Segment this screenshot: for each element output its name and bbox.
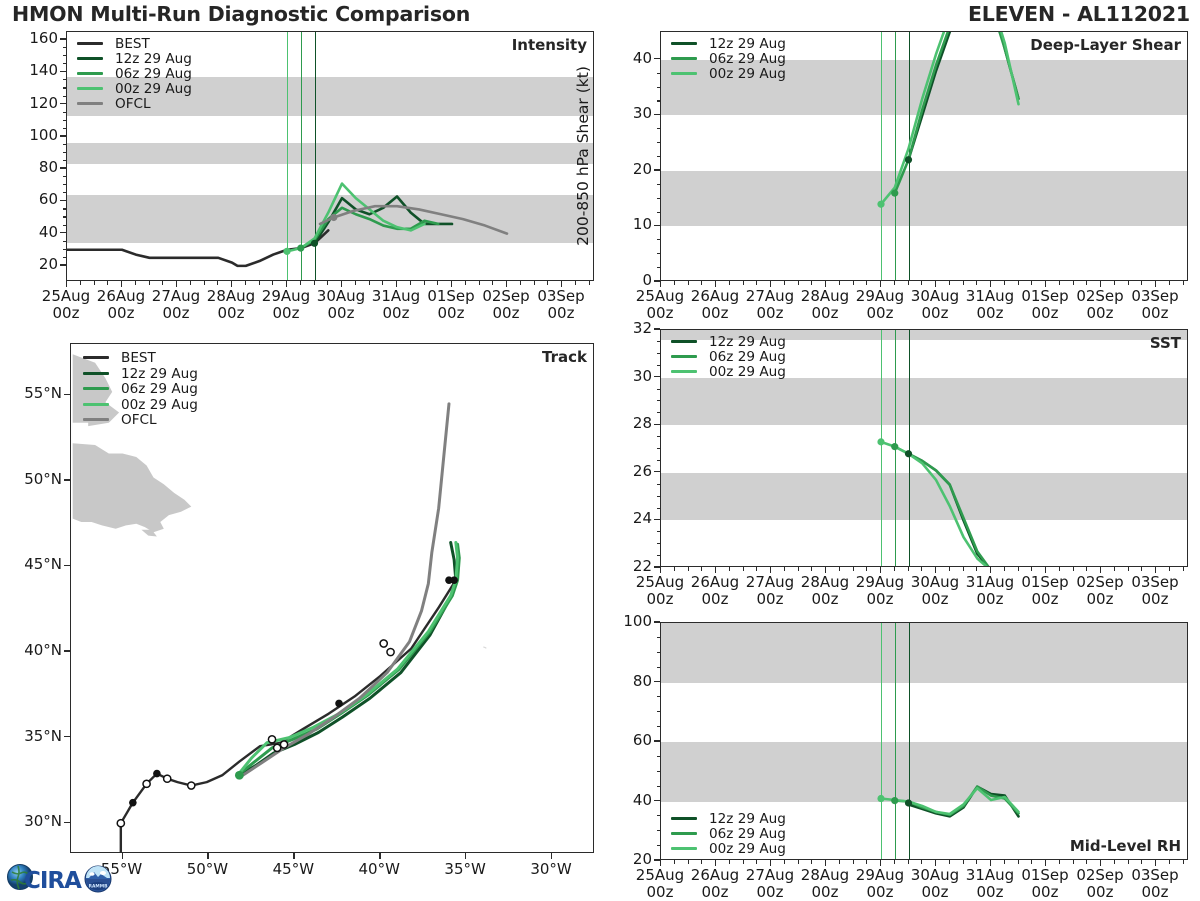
y-minor-tick <box>657 531 661 532</box>
x-minor-tick <box>424 281 425 285</box>
x-minor-tick <box>1031 281 1032 285</box>
y-minor-tick <box>657 353 661 354</box>
x-minor-tick <box>894 567 895 571</box>
y-minor-tick <box>63 176 67 177</box>
x-minor-tick <box>1018 567 1019 571</box>
legend-label-r06z: 06z 29 Aug <box>709 826 786 842</box>
y-tick-label: 20 <box>598 160 652 178</box>
x-minor-tick <box>811 860 812 864</box>
track-line <box>243 404 449 775</box>
x-minor-tick <box>866 860 867 864</box>
legend-swatch <box>671 72 697 75</box>
y-minor-tick <box>657 142 661 143</box>
legend-swatch <box>671 355 697 358</box>
y-minor-tick <box>657 484 661 485</box>
x-minor-tick <box>949 860 950 864</box>
x-minor-tick <box>674 860 675 864</box>
init-marker <box>891 797 898 804</box>
legend-label-r06z: 06z 29 Aug <box>709 349 786 365</box>
x-minor-tick <box>1004 281 1005 285</box>
x-minor-tick <box>1128 860 1129 864</box>
init-marker <box>905 450 912 457</box>
y-tickmark <box>60 167 66 168</box>
x-minor-tick <box>894 281 895 285</box>
series-line <box>881 788 1019 814</box>
y-tick-label: 35°N <box>4 727 62 745</box>
track-marker-open <box>280 741 287 748</box>
series-line <box>287 184 425 252</box>
cira-logo: CIRA RAMMB <box>6 858 118 898</box>
track-marker-filled <box>153 770 161 778</box>
legend-swatch <box>77 42 103 45</box>
y-minor-tick <box>63 152 67 153</box>
x-minor-tick <box>1114 567 1115 571</box>
y-tickmark <box>654 471 660 472</box>
legend-label-r00z: 00z 29 Aug <box>115 81 192 97</box>
x-minor-tick <box>1128 281 1129 285</box>
x-minor-tick <box>369 281 370 285</box>
panel-intensity: IntensityBEST12z 29 Aug06z 29 Aug00z 29 … <box>66 31 594 281</box>
x-minor-tick <box>534 281 535 285</box>
page-title-right: ELEVEN - AL112021 <box>968 2 1190 26</box>
x-minor-tick <box>1031 860 1032 864</box>
track-marker-open <box>188 782 195 789</box>
legend-swatch <box>83 418 109 421</box>
legend-swatch <box>671 847 697 850</box>
init-marker <box>905 156 912 163</box>
panel-track: TrackBEST12z 29 Aug06z 29 Aug00z 29 AugO… <box>70 343 594 853</box>
y-tickmark <box>60 71 66 72</box>
init-marker <box>330 214 337 221</box>
track-marker-filled <box>450 576 458 584</box>
x-minor-tick <box>190 281 191 285</box>
y-tickmark <box>654 58 660 59</box>
legend-swatch <box>83 403 109 406</box>
x-minor-tick <box>1018 281 1019 285</box>
x-minor-tick <box>1141 860 1142 864</box>
y-minor-tick <box>657 637 661 638</box>
x-minor-tick <box>908 281 909 285</box>
y-minor-tick <box>63 192 67 193</box>
x-minor-tick <box>382 281 383 285</box>
y-tickmark <box>654 169 660 170</box>
track-marker-open <box>380 640 387 647</box>
y-tick-label: 45°N <box>4 555 62 573</box>
x-minor-tick <box>784 281 785 285</box>
legend-label-r00z: 00z 29 Aug <box>709 841 786 857</box>
series-line <box>895 31 1019 193</box>
x-minor-tick <box>1086 860 1087 864</box>
x-minor-tick <box>688 567 689 571</box>
x-minor-tick <box>204 281 205 285</box>
legend-swatch <box>83 387 109 390</box>
legend-label-best: BEST <box>115 36 150 52</box>
y-minor-tick <box>63 96 67 97</box>
x-minor-tick <box>866 567 867 571</box>
legend-label-r12z: 12z 29 Aug <box>709 811 786 827</box>
y-tick-label: 26 <box>598 462 652 480</box>
x-minor-tick <box>1004 567 1005 571</box>
page-title-left: HMON Multi-Run Diagnostic Comparison <box>12 2 470 26</box>
x-minor-tick <box>410 281 411 285</box>
cira-logo-svg: CIRA RAMMB <box>6 858 118 898</box>
y-tickmark <box>60 264 66 265</box>
y-minor-tick <box>63 208 67 209</box>
series-line <box>909 787 1019 817</box>
x-minor-tick <box>589 281 590 285</box>
x-minor-tick <box>1086 281 1087 285</box>
series-line <box>895 447 991 567</box>
y-minor-tick <box>63 55 67 56</box>
y-tick-label: 80 <box>4 158 58 176</box>
track-marker-open <box>274 744 281 751</box>
x-tick-label: 35°W <box>423 861 507 878</box>
init-marker <box>877 795 884 802</box>
y-minor-tick <box>63 87 67 88</box>
y-tick-label: 100 <box>4 126 58 144</box>
x-minor-tick <box>1059 567 1060 571</box>
y-minor-tick <box>63 144 67 145</box>
x-tick-label: 40°W <box>337 861 421 878</box>
y-minor-tick <box>657 128 661 129</box>
y-tickmark <box>654 681 660 682</box>
x-minor-tick <box>756 567 757 571</box>
y-tickmark <box>654 328 660 329</box>
x-minor-tick <box>1059 860 1060 864</box>
panel-rh: Mid-Level RH12z 29 Aug06z 29 Aug00z 29 A… <box>660 622 1188 860</box>
panel-title-track: Track <box>542 348 587 366</box>
x-minor-tick <box>949 281 950 285</box>
x-minor-tick <box>1073 860 1074 864</box>
y-minor-tick <box>63 112 67 113</box>
y-minor-tick <box>657 696 661 697</box>
x-minor-tick <box>811 567 812 571</box>
x-minor-tick <box>314 281 315 285</box>
x-minor-tick <box>701 567 702 571</box>
y-minor-tick <box>657 73 661 74</box>
init-marker <box>891 443 898 450</box>
x-minor-tick <box>729 567 730 571</box>
x-minor-tick <box>756 860 757 864</box>
legend-label-r06z: 06z 29 Aug <box>121 381 198 397</box>
x-minor-tick <box>811 281 812 285</box>
x-minor-tick <box>894 860 895 864</box>
init-marker <box>877 438 884 445</box>
y-minor-tick <box>657 726 661 727</box>
init-marker <box>297 245 304 252</box>
x-minor-tick <box>976 860 977 864</box>
y-minor-tick <box>657 156 661 157</box>
legend-label-r00z: 00z 29 Aug <box>121 397 198 413</box>
y-tickmark <box>654 114 660 115</box>
x-minor-tick <box>94 281 95 285</box>
y-tick-label: 40 <box>598 49 652 67</box>
y-minor-tick <box>657 555 661 556</box>
panel-shear: Deep-Layer Shear12z 29 Aug06z 29 Aug00z … <box>660 31 1188 281</box>
y-minor-tick <box>657 212 661 213</box>
x-tickmark <box>207 853 208 859</box>
y-tickmark <box>654 225 660 226</box>
panel-title-rh: Mid-Level RH <box>1070 837 1181 855</box>
x-minor-tick <box>963 860 964 864</box>
y-tickmark <box>60 103 66 104</box>
init-marker <box>283 248 290 255</box>
x-minor-tick <box>976 281 977 285</box>
series-line <box>67 230 328 265</box>
y-minor-tick <box>657 341 661 342</box>
y-minor-tick <box>657 845 661 846</box>
series-line <box>909 31 1019 160</box>
x-tick-label: 50°W <box>165 861 249 878</box>
x-tickmark <box>465 853 466 859</box>
y-minor-tick <box>657 448 661 449</box>
y-tickmark <box>654 621 660 622</box>
init-marker <box>311 240 318 247</box>
x-minor-tick <box>1169 281 1170 285</box>
x-minor-tick <box>921 860 922 864</box>
y-tickmark <box>60 232 66 233</box>
y-tickmark <box>654 519 660 520</box>
y-tick-label: 40 <box>4 223 58 241</box>
legend-swatch <box>671 832 697 835</box>
x-minor-tick <box>908 860 909 864</box>
track-marker-open <box>268 736 275 743</box>
y-minor-tick <box>63 225 67 226</box>
x-minor-tick <box>575 281 576 285</box>
y-minor-tick <box>657 652 661 653</box>
y-minor-tick <box>657 543 661 544</box>
x-minor-tick <box>853 860 854 864</box>
x-tick-label: 30°W <box>509 861 593 878</box>
y-tickmark <box>60 38 66 39</box>
y-minor-tick <box>657 412 661 413</box>
y-tick-label: 30 <box>598 367 652 385</box>
y-minor-tick <box>657 830 661 831</box>
legend-swatch <box>83 356 109 359</box>
x-minor-tick <box>245 281 246 285</box>
x-minor-tick <box>674 281 675 285</box>
y-minor-tick <box>657 771 661 772</box>
x-minor-tick <box>729 281 730 285</box>
x-minor-tick <box>1169 860 1170 864</box>
x-minor-tick <box>355 281 356 285</box>
legend-swatch <box>671 42 697 45</box>
legend-label-r12z: 12z 29 Aug <box>115 51 192 67</box>
y-minor-tick <box>63 128 67 129</box>
track-marker-open <box>117 820 124 827</box>
x-minor-tick <box>839 281 840 285</box>
x-minor-tick <box>798 567 799 571</box>
x-minor-tick <box>784 860 785 864</box>
y-tickmark <box>64 650 70 651</box>
y-tick-label: 60 <box>598 731 652 749</box>
x-minor-tick <box>327 281 328 285</box>
x-minor-tick <box>547 281 548 285</box>
legend-swatch <box>77 72 103 75</box>
y-minor-tick <box>63 120 67 121</box>
legend-label-r06z: 06z 29 Aug <box>115 66 192 82</box>
x-minor-tick <box>839 567 840 571</box>
y-minor-tick <box>657 496 661 497</box>
y-minor-tick <box>657 667 661 668</box>
y-minor-tick <box>63 160 67 161</box>
x-minor-tick <box>1183 860 1184 864</box>
x-minor-tick <box>479 281 480 285</box>
legend-swatch <box>671 57 697 60</box>
x-minor-tick <box>465 281 466 285</box>
y-axis-label-shear: 200-850 hPa Shear (kt) <box>574 66 592 246</box>
x-minor-tick <box>976 567 977 571</box>
y-tickmark <box>654 740 660 741</box>
x-tickmark <box>122 853 123 859</box>
x-minor-tick <box>674 567 675 571</box>
track-marker-open <box>143 780 150 787</box>
y-tickmark <box>64 822 70 823</box>
legend-swatch <box>77 102 103 105</box>
x-minor-tick <box>437 281 438 285</box>
x-tick-label: 03Sep00z <box>519 288 603 322</box>
y-tick-label: 24 <box>598 509 652 527</box>
rammb-badge-text: RAMMB <box>89 884 109 890</box>
x-minor-tick <box>162 281 163 285</box>
x-minor-tick <box>949 567 950 571</box>
x-minor-tick <box>80 281 81 285</box>
legend-label-r00z: 00z 29 Aug <box>709 364 786 380</box>
y-minor-tick <box>657 184 661 185</box>
y-minor-tick <box>657 389 661 390</box>
panel-title-sst: SST <box>1150 334 1181 352</box>
x-minor-tick <box>798 281 799 285</box>
y-minor-tick <box>657 711 661 712</box>
y-minor-tick <box>657 239 661 240</box>
x-tickmark <box>379 853 380 859</box>
x-minor-tick <box>921 567 922 571</box>
legend-label-best: BEST <box>121 350 156 366</box>
x-tick-label: 45°W <box>251 861 335 878</box>
x-minor-tick <box>688 860 689 864</box>
x-tick-label: 03Sep00z <box>1113 288 1197 322</box>
init-marker <box>891 190 898 197</box>
y-minor-tick <box>657 756 661 757</box>
x-minor-tick <box>1031 567 1032 571</box>
x-minor-tick <box>1086 567 1087 571</box>
legend-swatch <box>77 87 103 90</box>
x-minor-tick <box>1141 567 1142 571</box>
y-tickmark <box>654 800 660 801</box>
y-tick-label: 60 <box>4 190 58 208</box>
y-tickmark <box>64 736 70 737</box>
track-marker-open <box>164 775 171 782</box>
legend-label-ofcl: OFCL <box>115 96 151 112</box>
y-minor-tick <box>657 460 661 461</box>
legend-label-r00z: 00z 29 Aug <box>709 66 786 82</box>
x-minor-tick <box>743 860 744 864</box>
y-minor-tick <box>657 198 661 199</box>
x-minor-tick <box>784 567 785 571</box>
y-tickmark <box>64 565 70 566</box>
x-minor-tick <box>1141 281 1142 285</box>
y-tick-label: 50°N <box>4 470 62 488</box>
x-minor-tick <box>743 281 744 285</box>
x-minor-tick <box>729 860 730 864</box>
x-minor-tick <box>701 860 702 864</box>
x-tickmark <box>551 853 552 859</box>
landmass-azores-hint <box>483 647 486 648</box>
x-minor-tick <box>107 281 108 285</box>
y-minor-tick <box>657 100 661 101</box>
y-minor-tick <box>63 249 67 250</box>
y-tick-label: 40°N <box>4 641 62 659</box>
x-minor-tick <box>492 281 493 285</box>
y-minor-tick <box>657 436 661 437</box>
track-marker-open <box>387 648 394 655</box>
legend-swatch <box>671 370 697 373</box>
legend-swatch <box>671 817 697 820</box>
legend-label-r12z: 12z 29 Aug <box>709 36 786 52</box>
y-minor-tick <box>63 79 67 80</box>
y-minor-tick <box>657 400 661 401</box>
x-minor-tick <box>1169 567 1170 571</box>
x-tick-label: 03Sep00z <box>1113 867 1197 901</box>
x-minor-tick <box>1059 281 1060 285</box>
y-tick-label: 100 <box>598 612 652 630</box>
track-marker-genesis <box>235 771 244 780</box>
x-minor-tick <box>259 281 260 285</box>
x-minor-tick <box>798 860 799 864</box>
y-tick-label: 80 <box>598 672 652 690</box>
y-minor-tick <box>63 216 67 217</box>
legend-label-ofcl: OFCL <box>121 412 157 428</box>
track-marker-filled <box>335 700 343 708</box>
x-minor-tick <box>853 567 854 571</box>
panel-sst: SST12z 29 Aug06z 29 Aug00z 29 Aug <box>660 329 1188 567</box>
y-tickmark <box>60 135 66 136</box>
track-line <box>121 580 456 852</box>
panel-title-shear: Deep-Layer Shear <box>1030 36 1181 54</box>
y-minor-tick <box>63 63 67 64</box>
y-tickmark <box>60 200 66 201</box>
x-minor-tick <box>1114 860 1115 864</box>
x-minor-tick <box>839 860 840 864</box>
y-minor-tick <box>63 257 67 258</box>
y-tick-label: 140 <box>4 61 58 79</box>
y-tick-label: 32 <box>598 319 652 337</box>
x-tickmark <box>293 853 294 859</box>
y-tick-label: 28 <box>598 414 652 432</box>
y-minor-tick <box>657 815 661 816</box>
y-tick-label: 30 <box>598 104 652 122</box>
y-minor-tick <box>63 241 67 242</box>
legend-swatch <box>671 340 697 343</box>
legend-label-r12z: 12z 29 Aug <box>121 366 198 382</box>
x-minor-tick <box>688 281 689 285</box>
x-tick-label: 03Sep00z <box>1113 574 1197 608</box>
x-minor-tick <box>520 281 521 285</box>
y-tickmark <box>64 479 70 480</box>
y-minor-tick <box>657 267 661 268</box>
x-minor-tick <box>217 281 218 285</box>
y-tickmark <box>654 424 660 425</box>
y-minor-tick <box>657 786 661 787</box>
y-minor-tick <box>657 365 661 366</box>
x-minor-tick <box>963 567 964 571</box>
x-minor-tick <box>743 567 744 571</box>
x-minor-tick <box>1018 860 1019 864</box>
landmass-notch <box>72 423 88 432</box>
series-line <box>909 454 992 567</box>
y-tick-label: 20 <box>4 255 58 273</box>
legend-swatch <box>83 372 109 375</box>
